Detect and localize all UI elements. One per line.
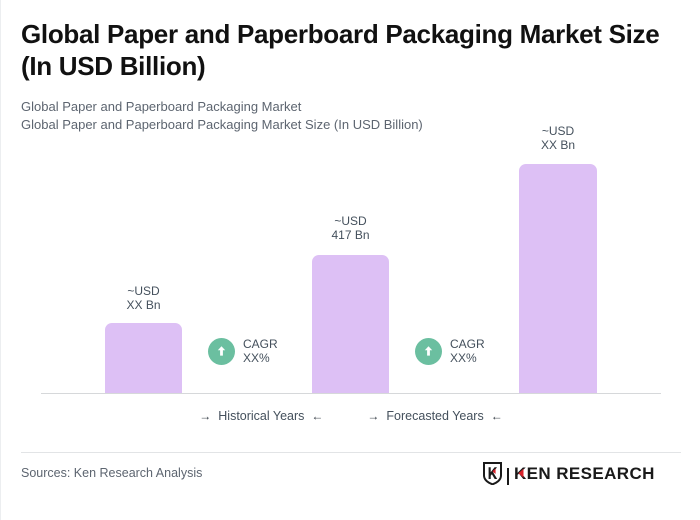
cagr-annotation-forecast: CAGR XX% [415,337,485,365]
cagr-title: CAGR [243,337,278,351]
bar-value-amount: XX Bn [519,138,597,152]
chart-axis-line [41,393,661,394]
cagr-label-group: CAGR XX% [243,337,278,365]
arrow-up-icon [208,338,235,365]
cagr-annotation-historical: CAGR XX% [208,337,278,365]
chart-subtitle-line-2: Global Paper and Paperboard Packaging Ma… [21,116,423,133]
logo-separator [507,468,509,485]
chart-subtitle-line-1: Global Paper and Paperboard Packaging Ma… [21,98,301,115]
arrow-left-icon: ← [491,410,503,422]
period-historical-years: → Historical Years ← [199,409,323,423]
bar-base-year [312,255,389,393]
bar-forecast [519,164,597,393]
ken-research-shield-icon [483,462,502,490]
svg-text:KEN RESEARCH: KEN RESEARCH [514,464,655,483]
cagr-value: XX% [243,351,278,365]
cagr-value: XX% [450,351,485,365]
arrow-up-icon [415,338,442,365]
bar-historical [105,323,182,393]
bar-value-label-base-year: ~USD 417 Bn [312,214,389,242]
arrow-left-icon: ← [311,410,323,422]
period-forecasted-years: → Forecasted Years ← [367,409,502,423]
period-legend: → Historical Years ← → Forecasted Years … [41,409,661,423]
ken-research-wordmark: KEN RESEARCH [514,464,664,489]
bar-value-label-forecast: ~USD XX Bn [519,124,597,152]
sources-text: Sources: Ken Research Analysis [21,466,202,480]
arrow-right-icon: → [367,410,379,422]
bar-value-unit: ~USD [519,124,597,138]
bar-value-amount: 417 Bn [312,228,389,242]
bar-value-label-historical: ~USD XX Bn [105,284,182,312]
bar-value-unit: ~USD [312,214,389,228]
period-label: Historical Years [218,409,304,423]
chart-page: Global Paper and Paperboard Packaging Ma… [0,0,700,520]
ken-research-logo: KEN RESEARCH [483,462,664,490]
cagr-label-group: CAGR XX% [450,337,485,365]
cagr-title: CAGR [450,337,485,351]
bar-value-amount: XX Bn [105,298,182,312]
period-label: Forecasted Years [386,409,483,423]
bar-value-unit: ~USD [105,284,182,298]
footer-divider [21,452,681,453]
page-title: Global Paper and Paperboard Packaging Ma… [21,18,681,82]
arrow-right-icon: → [199,410,211,422]
